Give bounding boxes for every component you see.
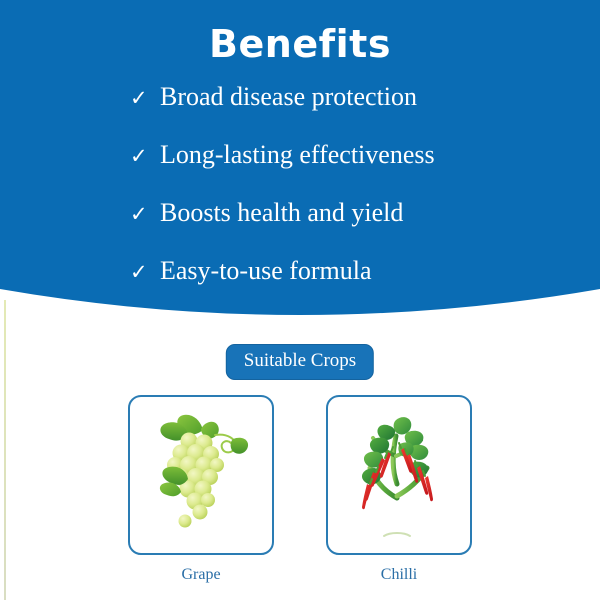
benefit-label: Broad disease protection — [160, 84, 417, 110]
crop-item-chilli: Chilli — [326, 395, 472, 583]
crop-caption: Chilli — [381, 567, 417, 583]
benefits-hero: Benefits ✓ Broad disease protection ✓ Lo… — [0, 0, 600, 320]
benefit-item: ✓ Boosts health and yield — [130, 200, 500, 258]
crop-card[interactable] — [128, 395, 274, 555]
chilli-plant-icon — [340, 410, 458, 540]
crop-card[interactable] — [326, 395, 472, 555]
check-icon: ✓ — [130, 204, 160, 225]
check-icon: ✓ — [130, 262, 160, 283]
suitable-crops-badge: Suitable Crops — [226, 344, 374, 380]
benefit-item: ✓ Long-lasting effectiveness — [130, 142, 500, 200]
product-benefits-panel: Benefits ✓ Broad disease protection ✓ Lo… — [0, 0, 600, 600]
crop-item-grape: Grape — [128, 395, 274, 583]
hero-content: Benefits ✓ Broad disease protection ✓ Lo… — [0, 0, 600, 320]
benefit-item: ✓ Easy-to-use formula — [130, 258, 500, 316]
suitable-crops-row: Grape — [0, 395, 600, 583]
benefit-label: Boosts health and yield — [160, 200, 403, 226]
crop-caption: Grape — [181, 567, 220, 583]
grape-bunch-icon — [145, 409, 257, 541]
benefits-list: ✓ Broad disease protection ✓ Long-lastin… — [0, 84, 600, 316]
check-icon: ✓ — [130, 146, 160, 167]
benefit-label: Easy-to-use formula — [160, 258, 372, 284]
check-icon: ✓ — [130, 88, 160, 109]
benefit-label: Long-lasting effectiveness — [160, 142, 435, 168]
benefit-item: ✓ Broad disease protection — [130, 84, 500, 142]
page-title: Benefits — [0, 22, 600, 66]
